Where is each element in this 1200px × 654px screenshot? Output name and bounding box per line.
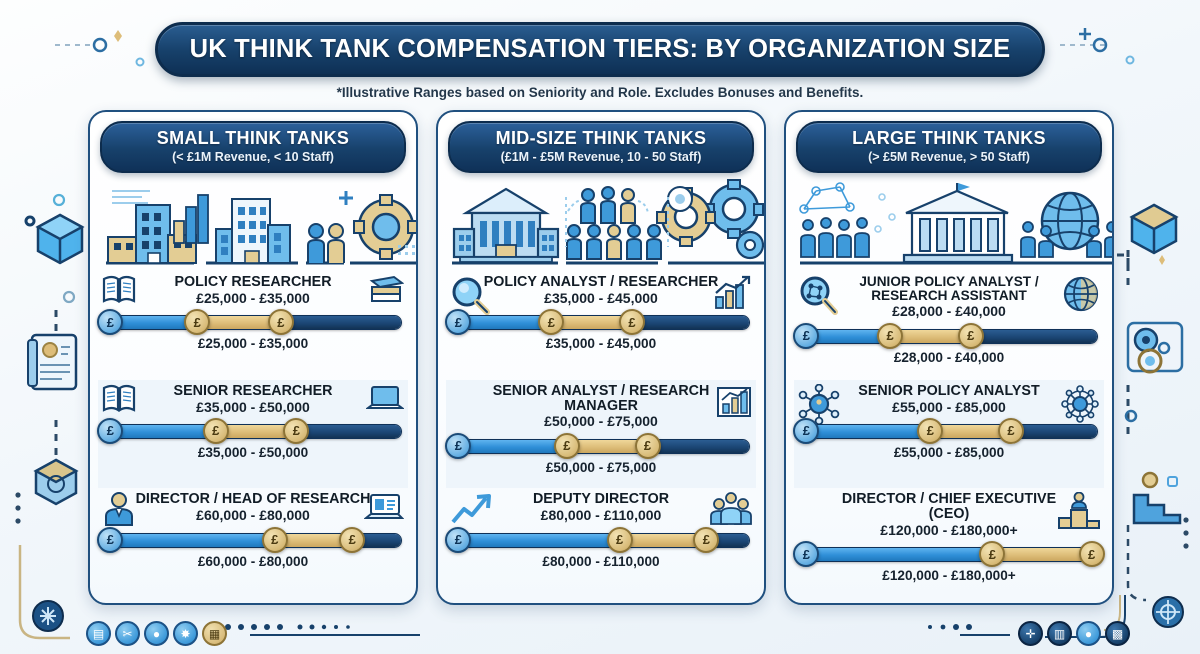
role-row: DIRECTOR / CHIEF EXECUTIVE (CEO) £120,00… <box>794 488 1104 597</box>
role-row: POLICY RESEARCHER £25,000 - £35,000 £ £ … <box>98 271 408 380</box>
role-title: POLICY ANALYST / RESEARCHER <box>446 275 756 290</box>
coin-marker-min[interactable]: £ <box>607 527 633 553</box>
people-group-icon <box>710 492 752 531</box>
bar-segment-blue <box>801 548 985 561</box>
globe-icon <box>1042 193 1098 249</box>
role-title: SENIOR POLICY ANALYST <box>794 384 1104 399</box>
role-range-repeat: £35,000 - £50,000 <box>98 445 408 460</box>
laptop-presentation-icon <box>364 492 404 529</box>
data-badge-icon[interactable]: ▦ <box>202 621 227 646</box>
column-header-pill: MID-SIZE THINK TANKS (£1M - £5M Revenue,… <box>448 121 754 173</box>
column-header: SMALL THINK TANKS (< £1M Revenue, < 10 S… <box>90 112 416 173</box>
gear-icon <box>354 195 418 259</box>
bank-chart-icon[interactable]: ▥ <box>1047 621 1072 646</box>
gears-icon <box>657 180 763 258</box>
bar-segment-navy <box>964 330 1097 343</box>
role-row: POLICY ANALYST / RESEARCHER £35,000 - £4… <box>446 271 756 380</box>
connection-icon[interactable]: ✛ <box>1018 621 1043 646</box>
salary-bar-track <box>800 329 1098 344</box>
column-header-pill: SMALL THINK TANKS (< £1M Revenue, < 10 S… <box>100 121 406 173</box>
coin-marker-max[interactable]: £ <box>998 418 1024 444</box>
role-title-line2: RESEARCH ASSISTANT <box>794 289 1104 303</box>
salary-bar-track <box>104 315 402 330</box>
salary-bar: £ £ £ <box>794 323 1104 349</box>
role-range: £25,000 - £35,000 <box>98 291 408 306</box>
salary-bar: £ £ £ <box>794 541 1104 567</box>
coin-marker-max[interactable]: £ <box>268 309 294 335</box>
podium-icon <box>1058 492 1100 537</box>
salary-bar: £ £ £ <box>98 418 408 444</box>
coin-marker-min[interactable]: £ <box>917 418 943 444</box>
role-title: JUNIOR POLICY ANALYST / <box>794 275 1104 289</box>
bar-chart-icon <box>174 195 208 243</box>
role-range-repeat: £60,000 - £80,000 <box>98 554 408 569</box>
column-header: MID-SIZE THINK TANKS (£1M - £5M Revenue,… <box>438 112 764 173</box>
team-badge-icon[interactable]: ● <box>1076 621 1101 646</box>
salary-bar: £ £ £ <box>98 309 408 335</box>
coin-marker-max[interactable]: £ <box>619 309 645 335</box>
salary-bar: £ £ £ <box>794 418 1104 444</box>
grid-icon[interactable]: ▩ <box>1105 621 1130 646</box>
column-illustration-large <box>794 177 1104 269</box>
business-person-icon <box>102 492 136 531</box>
role-title: SENIOR ANALYST / RESEARCH MANAGER <box>446 384 756 414</box>
coin-marker-start[interactable]: £ <box>793 418 819 444</box>
salary-bar-track <box>452 315 750 330</box>
role-row: DEPUTY DIRECTOR £80,000 - £110,000 £ £ £… <box>446 488 756 597</box>
role-range: £35,000 - £50,000 <box>98 400 408 415</box>
role-title: POLICY RESEARCHER <box>98 275 408 290</box>
coin-marker-min[interactable]: £ <box>554 433 580 459</box>
title-pill: UK THINK TANK COMPENSATION TIERS: BY ORG… <box>155 22 1045 77</box>
coin-marker-start[interactable]: £ <box>793 541 819 567</box>
bar-segment-blue <box>801 425 925 438</box>
role-range-repeat: £55,000 - £85,000 <box>794 445 1104 460</box>
plus-icon <box>339 191 353 205</box>
salary-bar-track <box>452 439 750 454</box>
salary-bar: £ £ £ <box>446 527 756 553</box>
column-title: MID-SIZE THINK TANKS <box>456 128 746 149</box>
open-book-icon <box>102 275 136 310</box>
roles-list-mid: POLICY ANALYST / RESEARCHER £35,000 - £4… <box>438 269 764 603</box>
role-range: £55,000 - £85,000 <box>794 400 1104 415</box>
network-dots <box>875 194 895 232</box>
globe-icon <box>1062 275 1100 318</box>
column-small-think-tanks: SMALL THINK TANKS (< £1M Revenue, < 10 S… <box>88 110 418 605</box>
tools-icon[interactable]: ✂ <box>115 621 140 646</box>
column-header: LARGE THINK TANKS (> £5M Revenue, > 50 S… <box>786 112 1112 173</box>
salary-bar-track <box>800 547 1098 562</box>
subtitle: *Illustrative Ranges based on Seniority … <box>0 85 1200 100</box>
upward-arrow-icon <box>450 492 494 531</box>
role-range: £28,000 - £40,000 <box>794 304 1104 319</box>
coin-marker-min[interactable]: £ <box>262 527 288 553</box>
coin-marker-start[interactable]: £ <box>445 309 471 335</box>
coin-marker-start[interactable]: £ <box>445 527 471 553</box>
coin-marker-min[interactable]: £ <box>877 323 903 349</box>
role-range: £50,000 - £75,000 <box>446 414 756 429</box>
coin-marker-max[interactable]: £ <box>283 418 309 444</box>
footer-icons-left: ▤ ✂ ● ✸ ▦ <box>86 621 227 646</box>
coin-marker-min[interactable]: £ <box>538 309 564 335</box>
role-range-repeat: £25,000 - £35,000 <box>98 336 408 351</box>
book-stack-icon <box>368 275 404 310</box>
person-badge-icon[interactable]: ● <box>144 621 169 646</box>
column-header-pill: LARGE THINK TANKS (> £5M Revenue, > 50 S… <box>796 121 1102 173</box>
columns-container: SMALL THINK TANKS (< £1M Revenue, < 10 S… <box>88 110 1114 605</box>
coin-marker-max[interactable]: £ <box>635 433 661 459</box>
role-range-repeat: £80,000 - £110,000 <box>446 554 756 569</box>
role-range-repeat: £120,000 - £180,000+ <box>794 568 1104 583</box>
role-range-repeat: £28,000 - £40,000 <box>794 350 1104 365</box>
column-criteria: (< £1M Revenue, < 10 Staff) <box>108 150 398 164</box>
coin-marker-start[interactable]: £ <box>97 418 123 444</box>
column-mid-size-think-tanks: MID-SIZE THINK TANKS (£1M - £5M Revenue,… <box>436 110 766 605</box>
role-range: £60,000 - £80,000 <box>98 508 408 523</box>
coin-marker-min[interactable]: £ <box>979 541 1005 567</box>
institution-building-icon <box>454 189 558 262</box>
coin-marker-min[interactable]: £ <box>203 418 229 444</box>
coin-marker-start[interactable]: £ <box>97 527 123 553</box>
role-title: SENIOR RESEARCHER <box>98 384 408 399</box>
gear-badge-icon[interactable]: ✸ <box>173 621 198 646</box>
bar-segment-blue <box>105 534 268 547</box>
role-range-repeat: £50,000 - £75,000 <box>446 460 756 475</box>
laptop-icon <box>366 384 404 419</box>
people-icon <box>308 224 344 263</box>
coin-marker-max[interactable]: £ <box>693 527 719 553</box>
bar-chart-icon <box>716 384 752 423</box>
coin-marker-start[interactable]: £ <box>97 309 123 335</box>
salary-bar-track <box>800 424 1098 439</box>
role-row: DIRECTOR / HEAD OF RESEARCH £60,000 - £8… <box>98 488 408 597</box>
column-illustration-small <box>98 177 408 269</box>
coin-marker-max[interactable]: £ <box>339 527 365 553</box>
column-criteria: (> £5M Revenue, > 50 Staff) <box>804 150 1094 164</box>
coin-marker-max[interactable]: £ <box>958 323 984 349</box>
bar-segment-blue <box>453 534 613 547</box>
coin-marker-start[interactable]: £ <box>793 323 819 349</box>
role-row: SENIOR POLICY ANALYST £55,000 - £85,000 … <box>794 380 1104 489</box>
salary-bar: £ £ £ <box>98 527 408 553</box>
document-badge-icon[interactable]: ▤ <box>86 621 111 646</box>
role-title: DIRECTOR / HEAD OF RESEARCH <box>98 492 408 507</box>
salary-bar: £ £ £ <box>446 433 756 459</box>
role-range: £35,000 - £45,000 <box>446 291 756 306</box>
role-row: JUNIOR POLICY ANALYST / RESEARCH ASSISTA… <box>794 271 1104 380</box>
role-row: SENIOR RESEARCHER £35,000 - £50,000 £ £ … <box>98 380 408 489</box>
open-book-icon <box>102 384 136 419</box>
coin-marker-start[interactable]: £ <box>445 433 471 459</box>
salary-bar: £ £ £ <box>446 309 756 335</box>
magnifier-network-icon <box>798 275 838 320</box>
column-title: LARGE THINK TANKS <box>804 128 1094 149</box>
column-illustration-mid <box>446 177 756 269</box>
network-people-icon <box>800 183 869 257</box>
role-range-repeat: £35,000 - £45,000 <box>446 336 756 351</box>
column-large-think-tanks: LARGE THINK TANKS (> £5M Revenue, > 50 S… <box>784 110 1114 605</box>
title-banner: UK THINK TANK COMPENSATION TIERS: BY ORG… <box>155 22 1045 77</box>
infographic-root: UK THINK TANK COMPENSATION TIERS: BY ORG… <box>0 0 1200 654</box>
page-title: UK THINK TANK COMPENSATION TIERS: BY ORG… <box>190 35 1011 64</box>
footer-icons-right: ✛ ▥ ● ▩ <box>1018 621 1130 646</box>
coin-marker-min[interactable]: £ <box>184 309 210 335</box>
team-group-icon <box>567 187 661 259</box>
column-criteria: (£1M - £5M Revenue, 10 - 50 Staff) <box>456 150 746 164</box>
salary-bar-track <box>104 424 402 439</box>
column-title: SMALL THINK TANKS <box>108 128 398 149</box>
coin-marker-max[interactable]: £ <box>1079 541 1105 567</box>
roles-list-large: JUNIOR POLICY ANALYST / RESEARCH ASSISTA… <box>786 269 1112 603</box>
role-row: SENIOR ANALYST / RESEARCH MANAGER £50,00… <box>446 380 756 489</box>
classical-institution-icon <box>904 183 1012 262</box>
roles-list-small: POLICY RESEARCHER £25,000 - £35,000 £ £ … <box>90 269 416 603</box>
office-buildings-icon-2 <box>216 199 290 263</box>
